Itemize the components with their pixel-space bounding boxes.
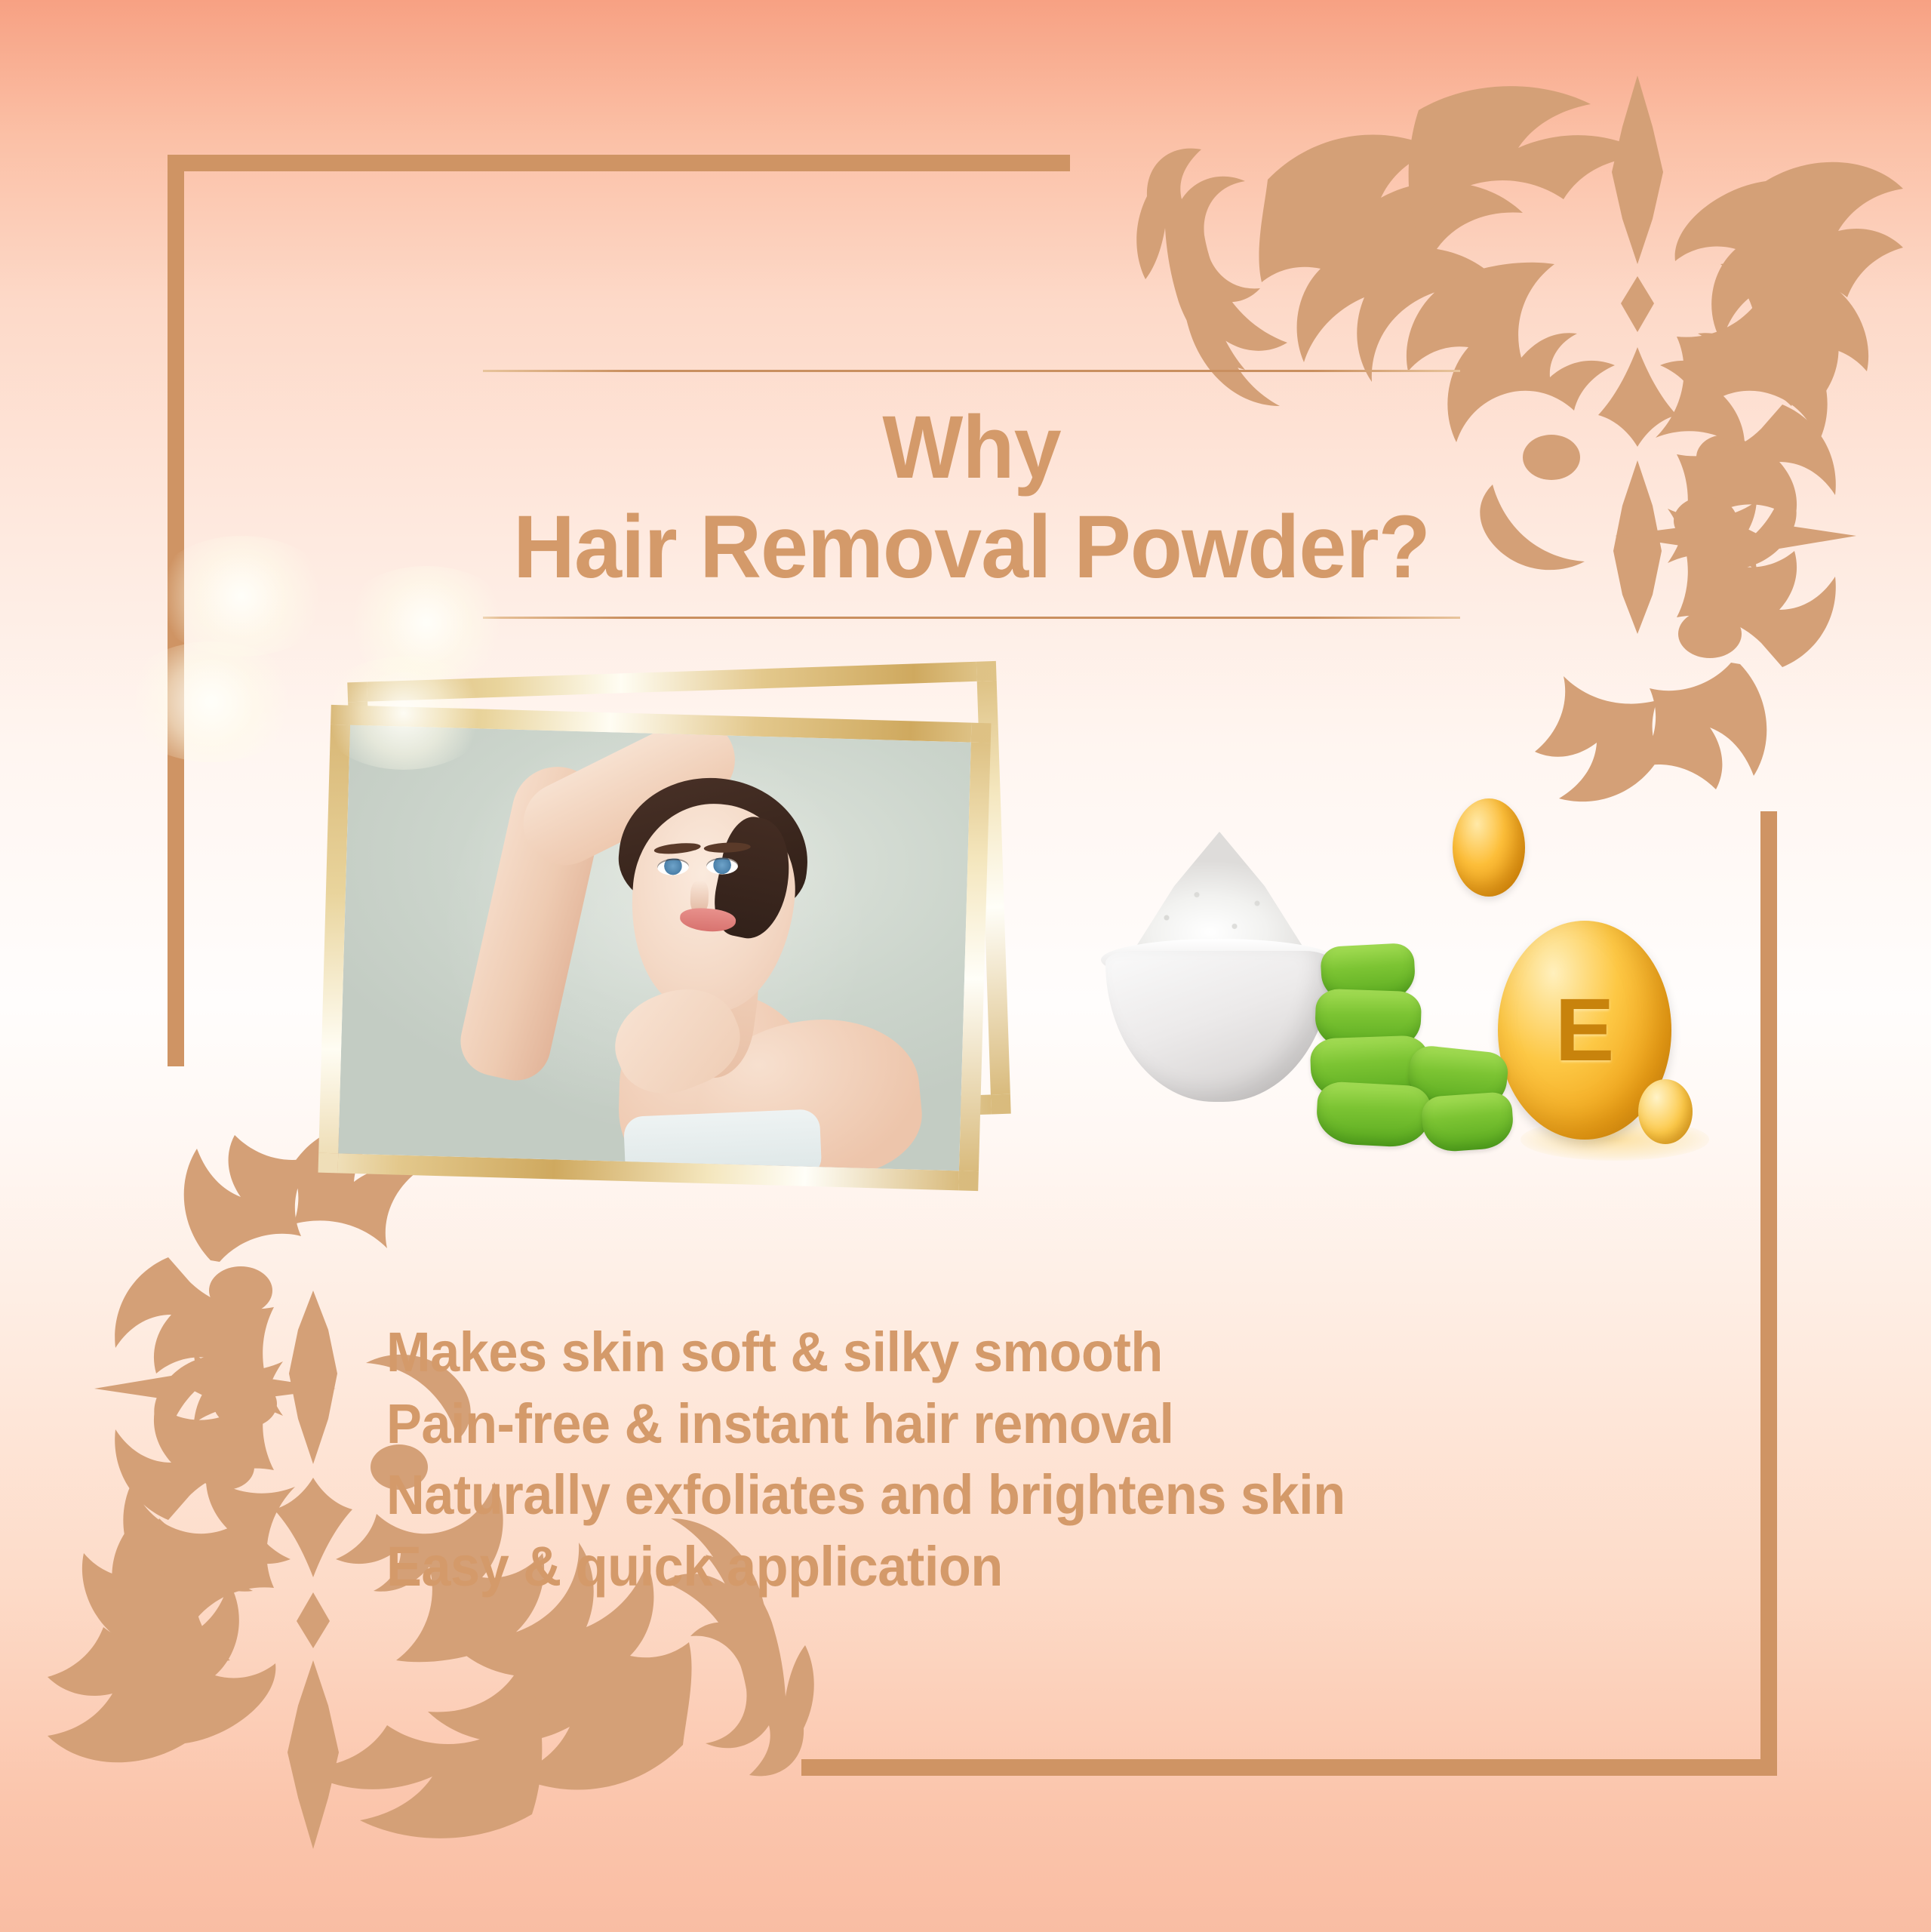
powder-bowl — [1105, 951, 1332, 1102]
page-title: Why Hair Removal Powder? — [503, 372, 1441, 617]
border-bottom-right-horizontal — [801, 1759, 1777, 1776]
benefit-item: Easy & quick application — [386, 1531, 1462, 1603]
vitamin-droplet-icon — [1638, 1079, 1693, 1144]
model-photo — [338, 725, 971, 1171]
frame-glow — [121, 641, 302, 762]
benefit-item: Makes skin soft & silky smooth — [386, 1317, 1462, 1389]
border-top-left-vertical — [168, 155, 184, 1066]
photo-frame-front — [318, 705, 992, 1191]
promotional-poster: Why Hair Removal Powder? — [0, 0, 1931, 1932]
title-rule-bottom — [483, 617, 1460, 619]
aloe-slice — [1421, 1091, 1515, 1153]
border-top-left-horizontal — [168, 155, 1070, 171]
ingredients-illustration: E — [1098, 777, 1702, 1170]
title-block: Why Hair Removal Powder? — [483, 370, 1460, 619]
aloe-slice — [1315, 1081, 1431, 1149]
benefit-item: Pain-free & instant hair removal — [386, 1389, 1462, 1460]
border-bottom-right-vertical — [1760, 811, 1777, 1776]
benefits-list: Makes skin soft & silky smooth Pain-free… — [386, 1317, 1518, 1603]
benefit-item: Naturally exfoliates and brightens skin — [386, 1460, 1462, 1531]
